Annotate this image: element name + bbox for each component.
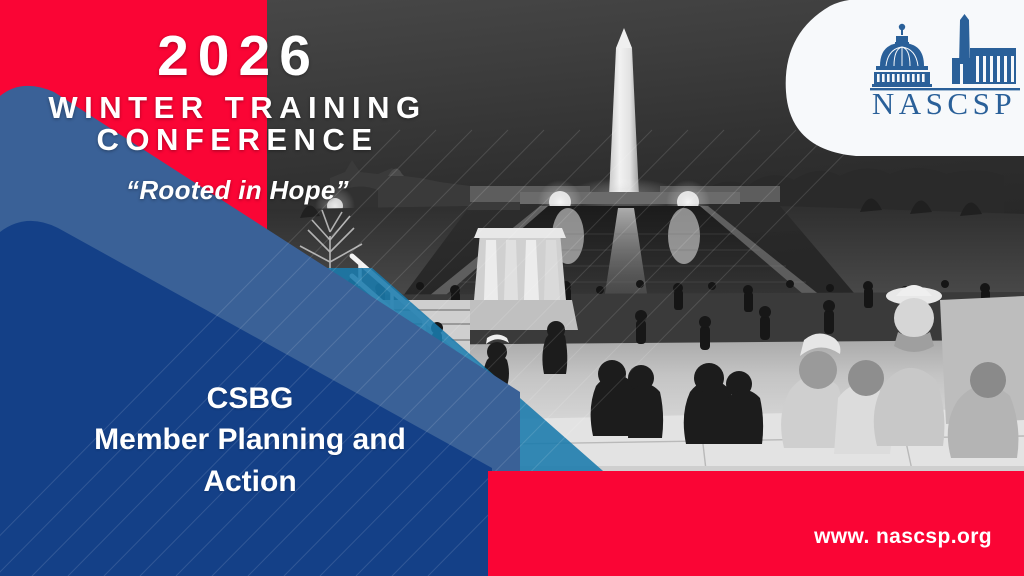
conference-tagline: “Rooted in Hope” bbox=[0, 175, 468, 206]
red-panel-bottom bbox=[488, 471, 1024, 576]
hero-text-block: 2026 WINTER TRAINING CONFERENCE “Rooted … bbox=[0, 28, 468, 206]
logo-wordmark: NASCSP bbox=[872, 86, 1016, 121]
session-title-block: CSBG Member Planning and Action bbox=[24, 378, 476, 502]
conference-poster: NASCSP 2026 WINTER TRAINING CONFERENCE “… bbox=[0, 0, 1024, 576]
session-title-line3: Action bbox=[24, 461, 476, 502]
conference-title-line2: CONFERENCE bbox=[0, 124, 468, 156]
conference-year: 2026 bbox=[0, 28, 468, 85]
capitol-dome-monument-colonnade-icon bbox=[872, 14, 1016, 87]
session-title-line1: CSBG bbox=[24, 378, 476, 419]
session-title-line2: Member Planning and bbox=[24, 419, 476, 460]
conference-title-line1: WINTER TRAINING bbox=[0, 92, 468, 124]
nascsp-logo: NASCSP bbox=[856, 14, 1020, 122]
website-url[interactable]: www. nascsp.org bbox=[0, 525, 1024, 549]
